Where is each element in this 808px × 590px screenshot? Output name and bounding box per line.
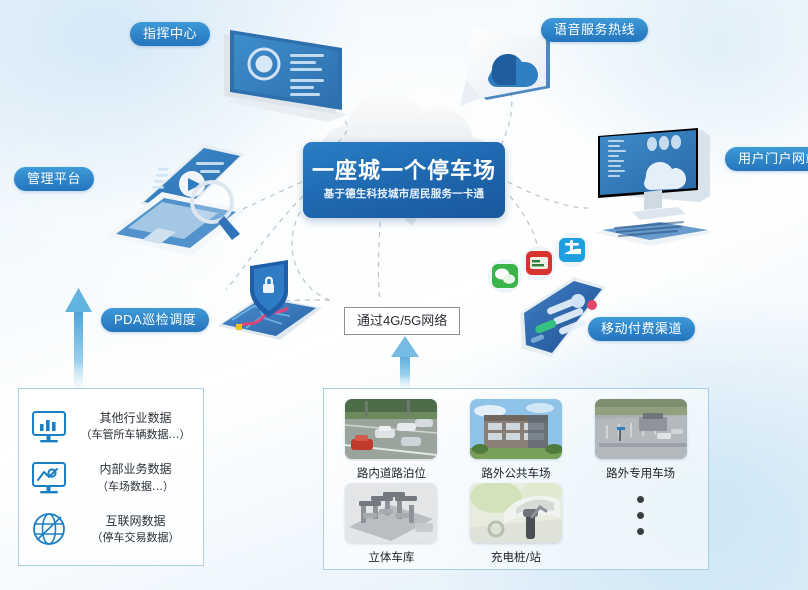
management-platform-laptop — [100, 140, 260, 265]
data-source-row: 互联网数据 （停车交易数据） — [29, 510, 193, 548]
page-title: 一座城一个停车场 — [312, 160, 496, 182]
data-source-title: 互联网数据 — [105, 513, 165, 530]
parking-type-item: 路外专用车场 — [581, 399, 700, 481]
network-type-box: 通过4G/5G网络 — [344, 307, 460, 335]
public-off-street-lot-photo — [470, 399, 562, 459]
pda-map-tablet-shield — [212, 256, 342, 361]
data-source-detail: （车场数据…） — [97, 479, 174, 495]
globe-network-icon — [29, 510, 69, 548]
data-source-title: 内部业务数据 — [99, 461, 171, 478]
data-source-row: 内部业务数据 （车场数据…） — [29, 459, 193, 497]
parking-type-caption: 充电桩/站 — [491, 549, 541, 565]
label-command-center[interactable]: 指挥中心 — [130, 22, 210, 46]
data-source-title: 其他行业数据 — [99, 410, 171, 427]
data-source-row: 其他行业数据 （车管所车辆数据…） — [29, 408, 193, 446]
monitor-line-chart-icon — [29, 459, 69, 497]
central-title-card: 一座城一个停车场 基于德生科技城市居民服务一卡通 — [303, 142, 505, 218]
page-subtitle: 基于德生科技城市居民服务一卡通 — [324, 189, 485, 200]
more-parking-types-indicator — [581, 483, 700, 565]
parking-type-caption: 路内道路泊位 — [357, 465, 426, 481]
parking-type-caption: 立体车库 — [368, 549, 414, 565]
ev-charging-station-photo — [470, 483, 562, 543]
command-center-display — [216, 18, 356, 133]
user-portal-desktop — [588, 128, 728, 263]
ellipsis-dot — [637, 512, 644, 519]
wechat-pay-icon — [487, 258, 523, 299]
ellipsis-dot — [637, 496, 644, 503]
ellipsis-dot — [637, 528, 644, 535]
label-mobile-payment[interactable]: 移动付费渠道 — [588, 317, 695, 341]
parking-type-item: 充电桩/站 — [457, 483, 576, 565]
parking-type-caption: 路外专用车场 — [606, 465, 675, 481]
private-off-street-lot-photo — [595, 399, 687, 459]
on-street-parking-photo — [345, 399, 437, 459]
label-user-portal[interactable]: 用户门户网站 — [725, 147, 808, 171]
data-source-detail: （停车交易数据） — [92, 530, 180, 546]
alipay-icon — [554, 232, 590, 273]
data-flow-arrow-left — [65, 288, 92, 388]
union-pay-icon — [521, 245, 557, 286]
multi-level-garage-photo — [345, 483, 437, 543]
label-pda-dispatch[interactable]: PDA巡检调度 — [101, 308, 209, 332]
architecture-diagram: 一座城一个停车场 基于德生科技城市居民服务一卡通 指挥中心 语音服务热线 用户门… — [0, 0, 808, 590]
label-voice-hotline[interactable]: 语音服务热线 — [541, 18, 648, 42]
data-flow-arrow-center — [391, 336, 419, 388]
parking-type-item: 路内道路泊位 — [332, 399, 451, 481]
parking-type-item: 立体车库 — [332, 483, 451, 565]
monitor-bar-chart-icon — [29, 408, 69, 446]
data-sources-panel: 其他行业数据 （车管所车辆数据…） 内部业务数据 （车场数据…） — [18, 388, 204, 566]
parking-type-item: 路外公共车场 — [457, 399, 576, 481]
label-management-platform[interactable]: 管理平台 — [14, 167, 94, 191]
parking-type-caption: 路外公共车场 — [481, 465, 550, 481]
parking-types-panel: 路内道路泊位 — [323, 388, 709, 570]
data-source-detail: （车管所车辆数据…） — [81, 427, 191, 443]
